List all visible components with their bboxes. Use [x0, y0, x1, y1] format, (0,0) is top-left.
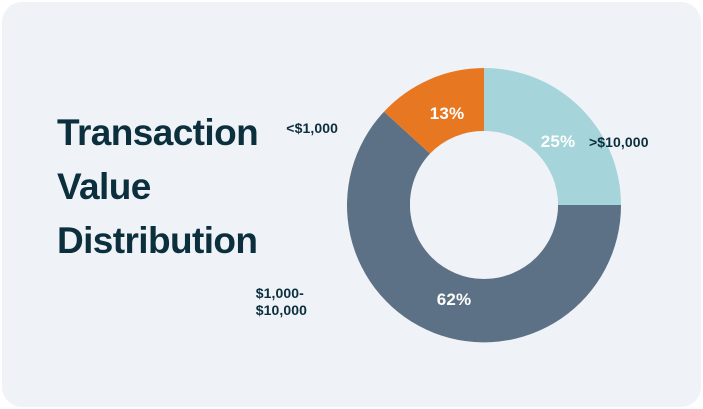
title-line-1: Transaction	[57, 106, 317, 160]
donut-hole	[410, 131, 558, 279]
slice-value-lt1k: 13%	[430, 104, 465, 124]
slice-label-mid: $1,000- $10,000	[256, 285, 307, 319]
slice-label-gt10k-line-1: >$10,000	[589, 134, 649, 150]
page-title: Transaction Value Distribution	[57, 106, 317, 268]
chart-card: Transaction Value Distribution 25% 62% 1…	[2, 2, 701, 407]
slice-label-lt1k-line-1: <$1,000	[286, 120, 338, 136]
slice-value-mid: 62%	[437, 290, 472, 310]
donut-chart-svg	[302, 42, 701, 382]
slice-label-mid-line-2: $10,000	[256, 302, 307, 319]
title-line-2: Value	[57, 160, 317, 214]
slice-label-gt10k: >$10,000	[589, 134, 649, 151]
slice-value-gt10k: 25%	[541, 132, 576, 152]
donut-chart: 25% 62% 13% >$10,000 <$1,000 $1,000- $10…	[302, 42, 701, 382]
slice-label-mid-line-1: $1,000-	[256, 285, 307, 302]
title-line-3: Distribution	[57, 214, 317, 268]
slice-label-lt1k: <$1,000	[286, 120, 338, 137]
